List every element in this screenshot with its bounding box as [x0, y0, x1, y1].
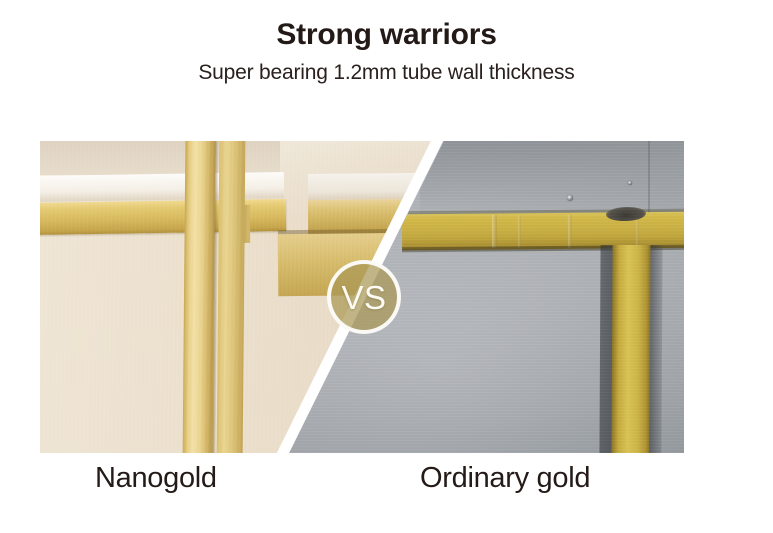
caption-row: Nanogold Ordinary gold [0, 462, 773, 512]
caption-nanogold: Nanogold [95, 462, 217, 495]
caption-ordinary-gold: Ordinary gold [420, 462, 590, 495]
vs-badge-label: VS [341, 281, 386, 314]
page-title: Strong warriors [0, 0, 773, 52]
page-subtitle: Super bearing 1.2mm tube wall thickness [0, 52, 773, 85]
comparison-photo: VS [40, 141, 684, 453]
header: Strong warriors Super bearing 1.2mm tube… [0, 0, 773, 85]
vs-badge: VS [327, 260, 401, 334]
